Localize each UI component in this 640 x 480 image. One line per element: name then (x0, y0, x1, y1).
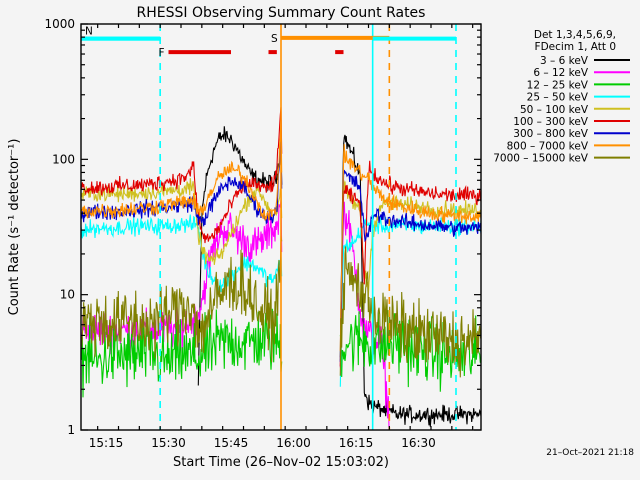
legend-label: 50 – 100 keV (520, 104, 589, 116)
x-tick-label: 16:00 (276, 436, 311, 450)
legend-label: 12 – 25 keV (527, 79, 589, 91)
y-tick-label: 100 (52, 152, 75, 166)
x-tick-label: 16:30 (401, 436, 436, 450)
plot-window: RHESSI Observing Summary Count Rates NFS… (0, 0, 640, 480)
y-tick-label: 10 (60, 288, 75, 302)
legend-decim-header: FDecim 1, Att 0 (535, 41, 616, 53)
legend-label: 800 – 7000 keV (507, 140, 589, 152)
x-tick-label: 15:30 (151, 436, 186, 450)
event-bar-label-saa: S (271, 33, 278, 45)
x-axis-label: Start Time (26–Nov–02 15:03:02) (173, 455, 389, 470)
rhessi-figure: RHESSI Observing Summary Count Rates NFS… (0, 0, 640, 480)
event-bar-label-night: N (85, 26, 93, 38)
x-tick-label: 15:15 (89, 436, 124, 450)
generation-timestamp: 21–Oct–2021 21:18 (546, 448, 634, 458)
event-bar-label-flare: F (159, 47, 165, 59)
legend-label: 300 – 800 keV (513, 128, 589, 140)
legend-label: 7000 – 15000 keV (493, 153, 589, 165)
legend-label: 3 – 6 keV (540, 55, 589, 67)
legend-label: 25 – 50 keV (527, 92, 589, 104)
legend-label: 100 – 300 keV (513, 116, 589, 128)
legend-label: 6 – 12 keV (533, 67, 588, 79)
y-axis-label: Count Rate (s⁻¹ detector⁻¹) (7, 139, 22, 316)
page-title: RHESSI Observing Summary Count Rates (137, 5, 426, 21)
y-tick-label: 1 (67, 423, 75, 437)
x-tick-label: 15:45 (214, 436, 249, 450)
legend-detector-header: Det 1,3,4,5,6,9, (534, 29, 616, 41)
y-tick-label: 1000 (44, 17, 75, 31)
x-tick-label: 16:15 (339, 436, 374, 450)
